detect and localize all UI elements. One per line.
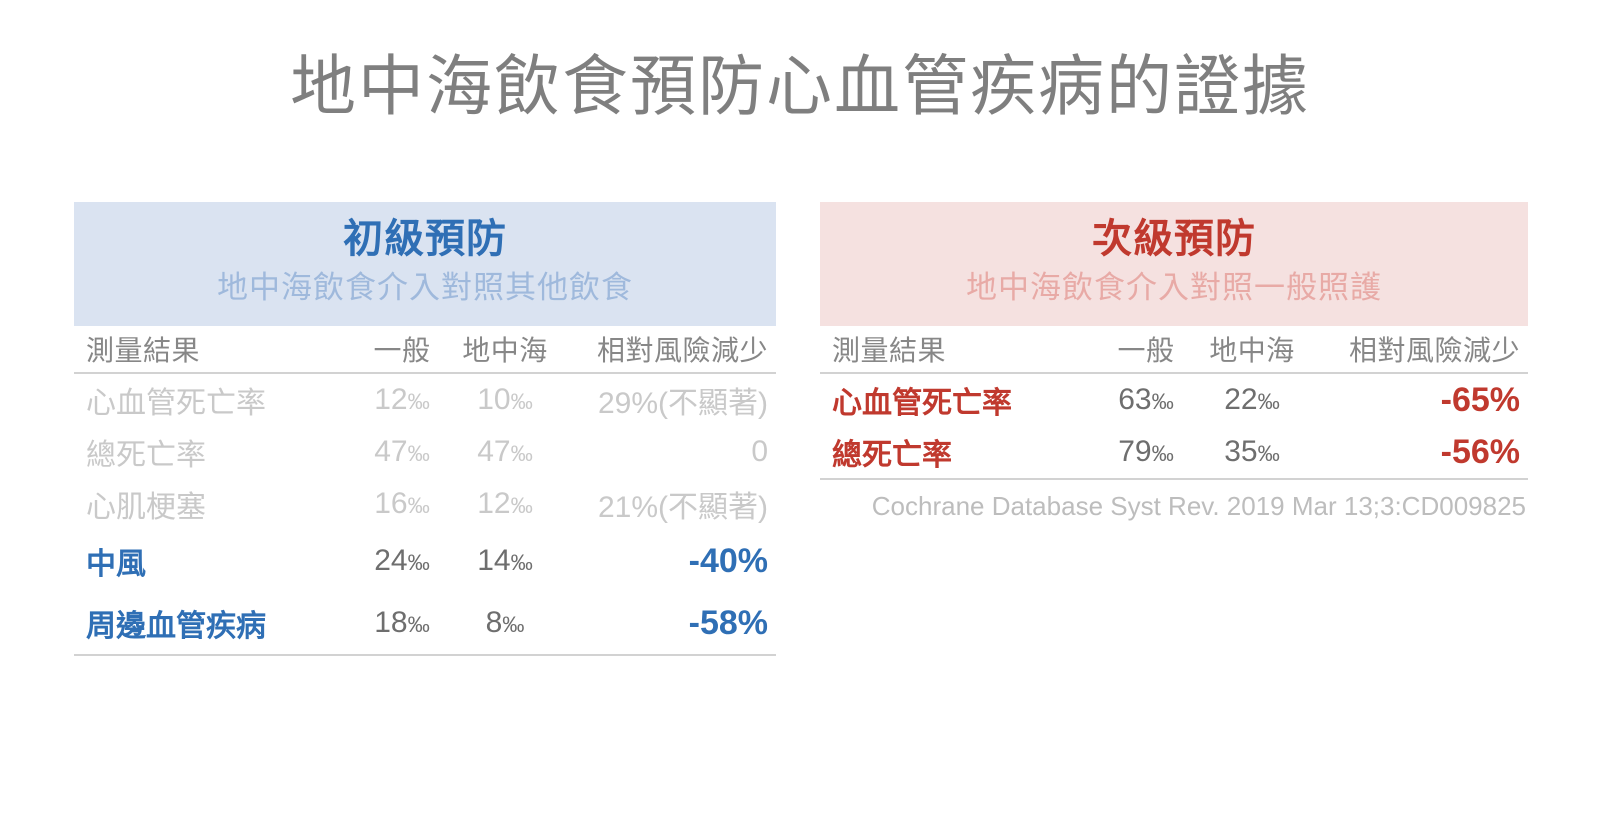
- column-header-usual-care: 一般: [1096, 326, 1196, 373]
- table-bottom-divider: [74, 654, 776, 656]
- column-header-mediterranean: 地中海: [450, 326, 560, 373]
- secondary-prevention-subtitle: 地中海飲食介入對照一般照護: [820, 266, 1528, 310]
- primary-prevention-header: 初級預防 地中海飲食介入對照其他飲食: [74, 202, 776, 326]
- cell-usual-care: 47‰: [354, 426, 450, 478]
- primary-prevention-subtitle: 地中海飲食介入對照其他飲食: [74, 266, 776, 310]
- cell-relative-risk-reduction: 0: [560, 426, 776, 478]
- table-row: 總死亡率 79‰ 35‰ -56%: [820, 426, 1528, 478]
- primary-prevention-panel: 初級預防 地中海飲食介入對照其他飲食 測量結果 一般 地中海 相對風險減少 心血…: [74, 202, 776, 656]
- table-header: 測量結果 一般 地中海 相對風險減少: [820, 326, 1528, 373]
- cell-usual-care: 12‰: [354, 373, 450, 426]
- cell-measure: 心肌梗塞: [74, 478, 354, 530]
- column-header-relative-risk-reduction: 相對風險減少: [560, 326, 776, 373]
- primary-prevention-title: 初級預防: [74, 212, 776, 266]
- primary-prevention-table: 測量結果 一般 地中海 相對風險減少 心血管死亡率 12‰ 10‰ 29%(不顯…: [74, 326, 776, 654]
- cell-mediterranean: 8‰: [450, 592, 560, 654]
- table-row: 中風 24‰ 14‰ -40%: [74, 530, 776, 592]
- cell-mediterranean: 12‰: [450, 478, 560, 530]
- page-title: 地中海飲食預防心血管疾病的證據: [0, 44, 1600, 128]
- cell-mediterranean: 10‰: [450, 373, 560, 426]
- secondary-prevention-title: 次級預防: [820, 212, 1528, 266]
- secondary-prevention-panel: 次級預防 地中海飲食介入對照一般照護 測量結果 一般 地中海 相對風險減少 心血…: [820, 202, 1528, 526]
- table-row: 心肌梗塞 16‰ 12‰ 21%(不顯著): [74, 478, 776, 530]
- table-body: 心血管死亡率 63‰ 22‰ -65% 總死亡率 79‰ 35‰ -56%: [820, 373, 1528, 478]
- cell-mediterranean: 22‰: [1196, 373, 1308, 426]
- cell-relative-risk-reduction: 29%(不顯著): [560, 373, 776, 426]
- cell-relative-risk-reduction: -58%: [560, 592, 776, 654]
- cell-relative-risk-reduction: -56%: [1308, 426, 1528, 478]
- column-header-measure: 測量結果: [74, 326, 354, 373]
- cell-relative-risk-reduction: -65%: [1308, 373, 1528, 426]
- cell-measure: 中風: [74, 530, 354, 592]
- cell-measure: 周邊血管疾病: [74, 592, 354, 654]
- cell-measure: 心血管死亡率: [820, 373, 1096, 426]
- column-header-measure: 測量結果: [820, 326, 1096, 373]
- column-header-usual-care: 一般: [354, 326, 450, 373]
- table-row: 周邊血管疾病 18‰ 8‰ -58%: [74, 592, 776, 654]
- cell-usual-care: 24‰: [354, 530, 450, 592]
- column-header-relative-risk-reduction: 相對風險減少: [1308, 326, 1528, 373]
- cell-mediterranean: 14‰: [450, 530, 560, 592]
- cell-usual-care: 63‰: [1096, 373, 1196, 426]
- column-header-mediterranean: 地中海: [1196, 326, 1308, 373]
- table-row: 心血管死亡率 63‰ 22‰ -65%: [820, 373, 1528, 426]
- table-row: 總死亡率 47‰ 47‰ 0: [74, 426, 776, 478]
- table-row: 心血管死亡率 12‰ 10‰ 29%(不顯著): [74, 373, 776, 426]
- cell-usual-care: 16‰: [354, 478, 450, 530]
- cell-usual-care: 18‰: [354, 592, 450, 654]
- cell-usual-care: 79‰: [1096, 426, 1196, 478]
- cell-relative-risk-reduction: 21%(不顯著): [560, 478, 776, 530]
- cell-measure: 總死亡率: [820, 426, 1096, 478]
- cell-relative-risk-reduction: -40%: [560, 530, 776, 592]
- secondary-prevention-header: 次級預防 地中海飲食介入對照一般照護: [820, 202, 1528, 326]
- cell-measure: 總死亡率: [74, 426, 354, 478]
- cell-measure: 心血管死亡率: [74, 373, 354, 426]
- secondary-prevention-table: 測量結果 一般 地中海 相對風險減少 心血管死亡率 63‰ 22‰ -65% 總…: [820, 326, 1528, 478]
- citation-text: Cochrane Database Syst Rev. 2019 Mar 13;…: [820, 480, 1528, 526]
- cell-mediterranean: 35‰: [1196, 426, 1308, 478]
- table-body: 心血管死亡率 12‰ 10‰ 29%(不顯著) 總死亡率 47‰ 47‰ 0 心…: [74, 373, 776, 654]
- cell-mediterranean: 47‰: [450, 426, 560, 478]
- table-header: 測量結果 一般 地中海 相對風險減少: [74, 326, 776, 373]
